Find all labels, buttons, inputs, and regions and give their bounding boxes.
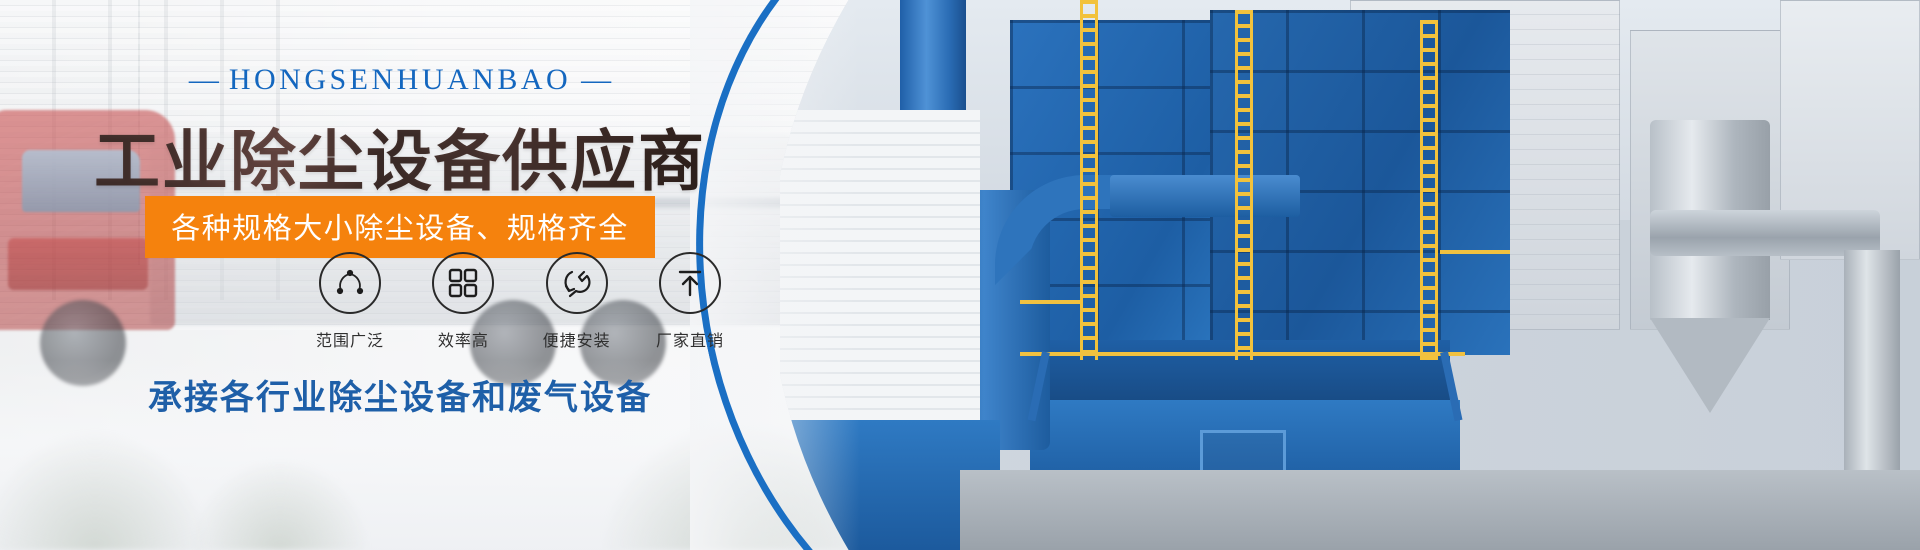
feature-label: 便捷安装 [527,327,627,351]
banner-content: —HONGSENHUANBAO— 工业除尘设备供应商 各种规格大小除尘设备、规格… [0,0,860,550]
grid-squares-icon [432,252,494,314]
yellow-ladder [1235,10,1253,360]
feature-item-direct-sales[interactable]: 厂家直销 [640,252,740,351]
feature-item-scope[interactable]: 范围广泛 [300,252,400,351]
wrench-circle-icon [546,252,608,314]
scope-network-icon [319,252,381,314]
yellow-railing [1020,300,1080,304]
hero-banner: —HONGSENHUANBAO— 工业除尘设备供应商 各种规格大小除尘设备、规格… [0,0,1920,550]
feature-label: 范围广泛 [300,327,400,351]
feature-item-efficiency[interactable]: 效率高 [413,252,513,351]
badge-container: 各种规格大小除尘设备、规格齐全 [0,196,800,258]
page-title: 工业除尘设备供应商 [0,108,800,204]
feature-item-installation[interactable]: 便捷安装 [527,252,627,351]
feature-label: 厂家直销 [640,327,740,351]
yellow-ladder [1080,0,1098,360]
factory-photo [780,0,1920,550]
yellow-ladder [1420,20,1438,360]
feature-list: 范围广泛 效率高 [300,252,740,351]
banner-tagline: 承接各行业除尘设备和废气设备 [0,370,800,419]
yellow-railing [1020,352,1465,356]
feature-label: 效率高 [413,327,513,351]
eyebrow-dash-right: — [571,63,621,96]
upload-arrow-icon [659,252,721,314]
eyebrow-dash-left: — [179,63,229,96]
highlight-badge: 各种规格大小除尘设备、规格齐全 [145,196,655,258]
silo-cone [1650,318,1770,413]
eyebrow-text: HONGSENHUANBAO [229,63,571,96]
concrete-ground [960,470,1920,550]
horizontal-blue-pipe [1110,175,1300,217]
yellow-railing [1440,250,1510,254]
brand-eyebrow: —HONGSENHUANBAO— [0,63,800,97]
